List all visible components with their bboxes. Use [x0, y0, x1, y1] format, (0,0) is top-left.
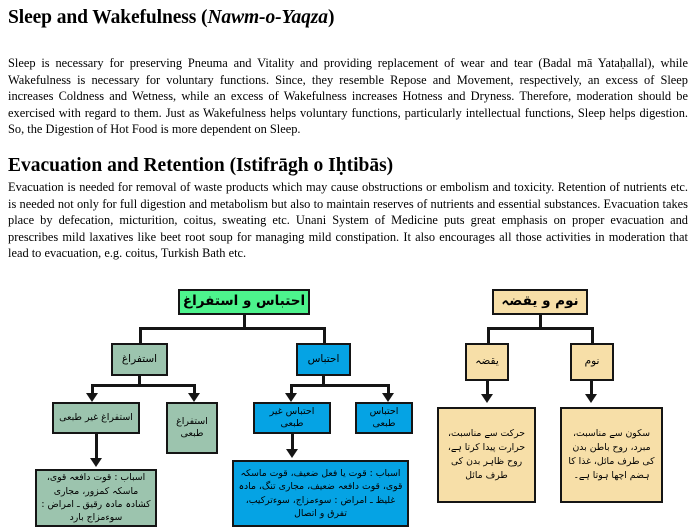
left-node-ihtibas-ghair-tabai-label: احتباس غیر طبعی	[257, 406, 327, 430]
left-node-ihtibas-label: احتباس	[300, 353, 347, 366]
connector-leaf-istifragh	[95, 434, 98, 461]
connector-right-drop-nawm	[591, 327, 594, 343]
arrowhead-istifragh-right	[188, 393, 200, 402]
left-leaf-ihtibas: اسباب : قوت یا فعل ضعیف، قوت ماسکہ قوی، …	[232, 460, 409, 527]
arrowhead-ihtibas-left	[285, 393, 297, 402]
section1-paragraph: Sleep is necessary for preserving Pneuma…	[8, 55, 688, 138]
left-node-ihtibas-ghair-tabai: احتباس غیر طبعی	[253, 402, 331, 434]
right-root-node: نوم و یقضہ	[492, 289, 588, 315]
section1-heading: Sleep and Wakefulness (Nawm-o-Yaqza)	[8, 6, 688, 29]
right-leaf-yaqza-text: حرکت سے مناسبت، حرارت پیدا کرتا ہے، روح …	[444, 427, 529, 483]
right-leaf-nawm: سکون سے مناسبت، مبرد، روح باطن بدن کی طر…	[560, 407, 663, 503]
left-root-node: احتباس و استفراغ	[178, 289, 310, 315]
arrowhead-ihtibas-right	[382, 393, 394, 402]
section1-heading-close: )	[328, 7, 334, 28]
left-node-ihtibas: احتباس	[296, 343, 351, 376]
left-node-istifragh-ghair-tabai: استفراغ غیر طبعی	[52, 402, 140, 434]
connector-right-drop-yaqza	[487, 327, 490, 343]
right-leaf-yaqza: حرکت سے مناسبت، حرارت پیدا کرتا ہے، روح …	[437, 407, 536, 503]
connector-left-drop-istifragh	[139, 327, 142, 343]
connector-right-root-bus	[487, 327, 593, 330]
left-node-istifragh-label: استفراغ	[115, 353, 164, 366]
document-body: Sleep and Wakefulness (Nawm-o-Yaqza) Sle…	[0, 0, 696, 262]
connector-ihtibas-bus	[290, 384, 389, 387]
left-node-ihtibas-tabai: احتباس طبعی	[355, 402, 413, 434]
flowchart-area: احتباس و استفراغ استفراغ احتباس استفراغ …	[0, 281, 696, 529]
arrowhead-leaf-ihtibas	[286, 449, 298, 458]
left-node-ihtibas-tabai-label: احتباس طبعی	[359, 406, 409, 430]
section2-paragraph: Evacuation is needed for removal of wast…	[8, 179, 688, 262]
left-leaf-istifragh: اسباب : قوت دافعہ قوی، ماسکہ کمزور، مجار…	[35, 469, 157, 527]
right-node-nawm: نوم	[570, 343, 614, 381]
right-node-yaqza-label: یقضہ	[469, 355, 505, 368]
arrowhead-leaf-istifragh	[90, 458, 102, 467]
left-root-label: احتباس و استفراغ	[182, 293, 306, 310]
left-node-istifragh-ghair-tabai-label: استفراغ غیر طبعی	[56, 412, 136, 424]
connector-left-drop-ihtibas	[323, 327, 326, 343]
arrowhead-right-nawm	[585, 394, 597, 403]
section1-heading-plain: Sleep and Wakefulness (	[8, 7, 207, 28]
arrowhead-right-yaqza	[481, 394, 493, 403]
connector-istifragh-bus	[91, 384, 195, 387]
arrowhead-istifragh-left	[86, 393, 98, 402]
right-node-nawm-label: نوم	[574, 355, 610, 368]
left-node-istifragh-tabai: استفراغ طبعی	[166, 402, 218, 454]
right-root-label: نوم و یقضہ	[496, 293, 584, 310]
left-node-istifragh: استفراغ	[111, 343, 168, 376]
left-leaf-istifragh-text: اسباب : قوت دافعہ قوی، ماسکہ کمزور، مجار…	[41, 471, 151, 525]
right-leaf-nawm-text: سکون سے مناسبت، مبرد، روح باطن بدن کی طر…	[567, 427, 656, 483]
left-node-istifragh-tabai-label: استفراغ طبعی	[170, 416, 214, 440]
section2-heading: Evacuation and Retention (Istifrāgh o Iḥ…	[8, 154, 688, 177]
section1-heading-italic: Nawm-o-Yaqza	[207, 7, 328, 28]
right-node-yaqza: یقضہ	[465, 343, 509, 381]
left-leaf-ihtibas-text: اسباب : قوت یا فعل ضعیف، قوت ماسکہ قوی، …	[238, 467, 403, 521]
connector-left-root-bus	[139, 327, 325, 330]
